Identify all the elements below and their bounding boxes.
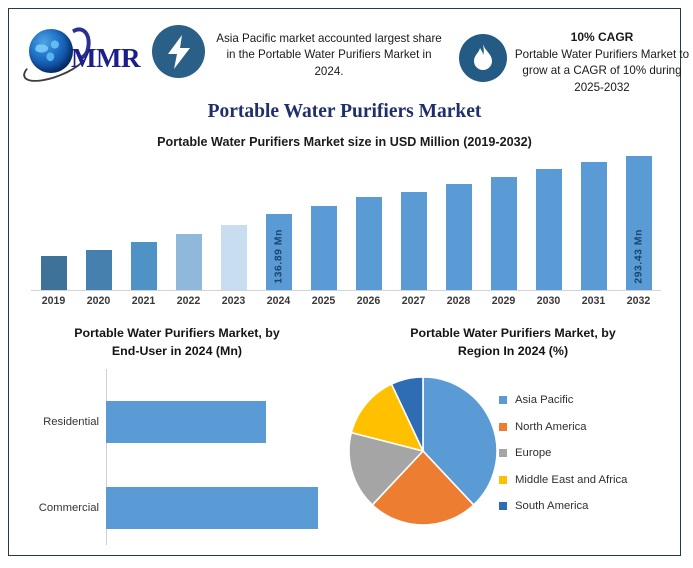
bar-2032: 293.43 Mn (626, 156, 652, 290)
legend-swatch-icon (499, 449, 507, 457)
cagr-description: Portable Water Purifiers Market to grow … (515, 48, 689, 94)
bar-column (571, 157, 616, 290)
legend-label: Asia Pacific (515, 394, 573, 406)
end-user-label-residential: Residential (21, 416, 106, 428)
legend-swatch-icon (499, 396, 507, 404)
legend-label: North America (515, 421, 587, 433)
x-label-2027: 2027 (391, 295, 436, 307)
bar-column (436, 157, 481, 290)
bar-2025 (311, 206, 337, 290)
bar-2028 (446, 184, 472, 290)
x-label-2030: 2030 (526, 295, 571, 307)
end-user-bar-commercial (106, 487, 318, 529)
bar-column (481, 157, 526, 290)
bar-column (121, 157, 166, 290)
end-user-title-line2: End-User in 2024 (Mn) (17, 343, 337, 361)
bar-chart-x-axis-labels: 2019202020212022202320242025202620272028… (31, 295, 661, 307)
x-label-2024: 2024 (256, 295, 301, 307)
legend-item: Middle East and Africa (499, 467, 627, 494)
end-user-label-commercial: Commercial (21, 502, 106, 514)
bar-2031 (581, 162, 607, 290)
bar-chart-plot: 136.89 Mn293.43 Mn (31, 157, 661, 291)
end-user-chart-title: Portable Water Purifiers Market, by End-… (17, 325, 337, 361)
end-user-plot: ResidentialCommercial (21, 369, 333, 547)
x-label-2021: 2021 (121, 295, 166, 307)
bar-2026 (356, 197, 382, 290)
end-user-bar-chart: Portable Water Purifiers Market, by End-… (9, 325, 345, 557)
legend-label: Middle East and Africa (515, 474, 627, 486)
bar-2024: 136.89 Mn (266, 214, 292, 290)
bar-column (211, 157, 256, 290)
bar-value-label: 136.89 Mn (273, 229, 284, 284)
x-label-2020: 2020 (76, 295, 121, 307)
x-label-2029: 2029 (481, 295, 526, 307)
legend-item: North America (499, 414, 627, 441)
page-title: Portable Water Purifiers Market (9, 101, 680, 123)
header-right-note: 10% CAGR Portable Water Purifiers Market… (507, 29, 693, 96)
legend-label: Europe (515, 447, 551, 459)
bar-2030 (536, 169, 562, 290)
bar-value-label: 293.43 Mn (633, 229, 644, 284)
region-chart-title: Portable Water Purifiers Market, by Regi… (363, 325, 663, 361)
legend-swatch-icon (499, 423, 507, 431)
x-label-2028: 2028 (436, 295, 481, 307)
infographic-frame: MMR Asia Pacific market accounted larges… (8, 8, 681, 556)
flame-drop-icon (459, 34, 507, 82)
bar-2027 (401, 192, 427, 290)
end-user-row: Commercial (21, 487, 318, 529)
pie-legend: Asia PacificNorth AmericaEuropeMiddle Ea… (499, 387, 627, 520)
bar-chart-title: Portable Water Purifiers Market size in … (9, 135, 680, 149)
bar-column (166, 157, 211, 290)
mmr-logo: MMR (21, 25, 149, 81)
bar-2019 (41, 256, 67, 290)
bar-2021 (131, 242, 157, 290)
bar-2023 (221, 225, 247, 290)
legend-item: Asia Pacific (499, 387, 627, 414)
x-label-2022: 2022 (166, 295, 211, 307)
region-title-line2: Region In 2024 (%) (363, 343, 663, 361)
end-user-title-line1: Portable Water Purifiers Market, by (17, 325, 337, 343)
pie-graphic (345, 363, 505, 541)
x-label-2032: 2032 (616, 295, 661, 307)
cagr-value: 10% CAGR (507, 29, 693, 46)
market-size-bar-chart: Portable Water Purifiers Market size in … (9, 135, 680, 319)
end-user-bar-residential (106, 401, 266, 443)
x-label-2026: 2026 (346, 295, 391, 307)
region-pie-chart: Portable Water Purifiers Market, by Regi… (345, 325, 680, 557)
legend-swatch-icon (499, 476, 507, 484)
header-left-note: Asia Pacific market accounted largest sh… (214, 31, 444, 80)
x-label-2023: 2023 (211, 295, 256, 307)
bar-column: 136.89 Mn (256, 157, 301, 290)
header: MMR Asia Pacific market accounted larges… (9, 9, 680, 129)
lightning-bolt-icon (152, 25, 205, 78)
bar-chart-axis (31, 290, 661, 291)
x-label-2025: 2025 (301, 295, 346, 307)
bar-series: 136.89 Mn293.43 Mn (31, 157, 661, 290)
legend-swatch-icon (499, 502, 507, 510)
bar-column (346, 157, 391, 290)
region-title-line1: Portable Water Purifiers Market, by (363, 325, 663, 343)
bar-2029 (491, 177, 517, 290)
bar-column (526, 157, 571, 290)
bar-2022 (176, 234, 202, 290)
bar-column (31, 157, 76, 290)
x-label-2031: 2031 (571, 295, 616, 307)
legend-label: South America (515, 500, 588, 512)
bar-column: 293.43 Mn (616, 157, 661, 290)
bar-2020 (86, 250, 112, 290)
logo-text: MMR (71, 43, 140, 74)
legend-item: South America (499, 493, 627, 520)
x-label-2019: 2019 (31, 295, 76, 307)
bar-column (76, 157, 121, 290)
bar-column (391, 157, 436, 290)
legend-item: Europe (499, 440, 627, 467)
end-user-row: Residential (21, 401, 266, 443)
bar-column (301, 157, 346, 290)
